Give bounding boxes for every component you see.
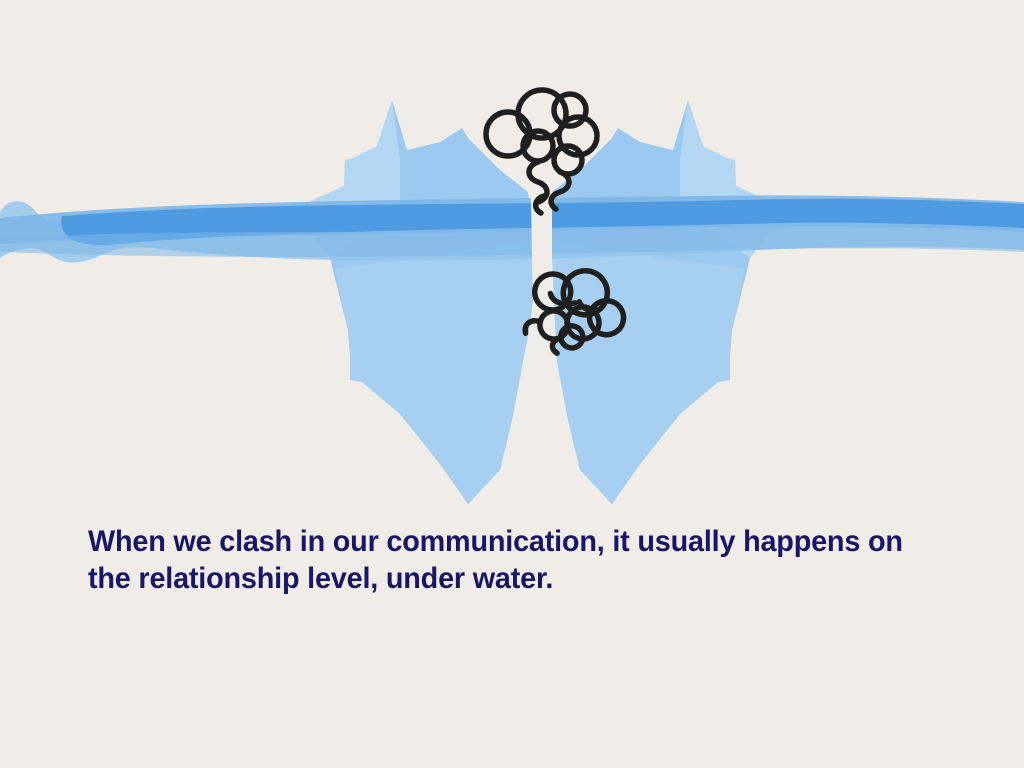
slide-canvas: When we clash in our communication, it u… — [0, 0, 1024, 768]
caption-text: When we clash in our communication, it u… — [88, 524, 962, 598]
iceberg-right-lower-shade — [547, 240, 745, 504]
waterline-band — [0, 195, 1024, 262]
iceberg-illustration — [0, 0, 1024, 768]
iceberg-left-half — [292, 100, 533, 504]
iceberg-left-lower-shade — [335, 240, 533, 504]
